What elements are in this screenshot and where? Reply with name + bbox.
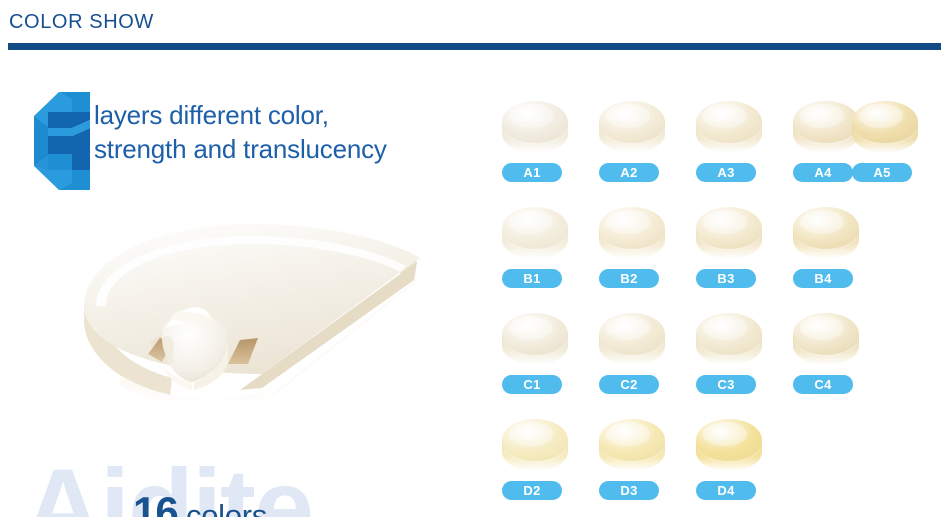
swatch-a1[interactable]: A1 bbox=[497, 88, 573, 188]
swatch-d3[interactable]: D3 bbox=[594, 406, 670, 506]
swatch-c1[interactable]: C1 bbox=[497, 300, 573, 400]
swatch-c2[interactable]: C2 bbox=[594, 300, 670, 400]
swatch-label-d2[interactable]: D2 bbox=[502, 481, 562, 500]
swatch-row-c: C1C2C3C4 bbox=[497, 300, 947, 405]
swatch-label-c3[interactable]: C3 bbox=[696, 375, 756, 394]
swatch-a5[interactable]: A5 bbox=[847, 88, 923, 188]
swatch-label-c1[interactable]: C1 bbox=[502, 375, 562, 394]
header-divider bbox=[8, 43, 941, 50]
disc-c1 bbox=[497, 300, 573, 374]
left-content-pane: layers different color, strength and tra… bbox=[0, 56, 480, 517]
swatch-row-d: D2D3D4 bbox=[497, 406, 947, 511]
headline-text: layers different color, strength and tra… bbox=[94, 98, 474, 166]
disc-b1 bbox=[497, 194, 573, 268]
swatch-label-b4[interactable]: B4 bbox=[793, 269, 853, 288]
swatch-label-b3[interactable]: B3 bbox=[696, 269, 756, 288]
color-count-word: colors bbox=[178, 498, 267, 517]
headline-line-2: strength and translucency bbox=[94, 132, 474, 166]
swatch-label-d3[interactable]: D3 bbox=[599, 481, 659, 500]
swatch-a3[interactable]: A3 bbox=[691, 88, 767, 188]
swatch-d4[interactable]: D4 bbox=[691, 406, 767, 506]
swatch-label-a4[interactable]: A4 bbox=[793, 163, 853, 182]
swatch-b2[interactable]: B2 bbox=[594, 194, 670, 294]
disc-d2 bbox=[497, 406, 573, 480]
disc-c3 bbox=[691, 300, 767, 374]
swatch-label-c4[interactable]: C4 bbox=[793, 375, 853, 394]
swatch-label-b1[interactable]: B1 bbox=[502, 269, 562, 288]
disc-b4 bbox=[788, 194, 864, 268]
swatch-label-d4[interactable]: D4 bbox=[696, 481, 756, 500]
color-show-page: COLOR SHOW layers different color, stren… bbox=[0, 0, 950, 517]
swatch-c3[interactable]: C3 bbox=[691, 300, 767, 400]
disc-a3 bbox=[691, 88, 767, 162]
disc-c4 bbox=[788, 300, 864, 374]
swatch-label-a1[interactable]: A1 bbox=[502, 163, 562, 182]
swatch-b3[interactable]: B3 bbox=[691, 194, 767, 294]
disc-d3 bbox=[594, 406, 670, 480]
disc-a2 bbox=[594, 88, 670, 162]
product-image-zirconia-block bbox=[62, 214, 462, 424]
disc-b3 bbox=[691, 194, 767, 268]
swatch-c4[interactable]: C4 bbox=[788, 300, 864, 400]
swatch-a2[interactable]: A2 bbox=[594, 88, 670, 188]
swatch-label-a3[interactable]: A3 bbox=[696, 163, 756, 182]
page-title: COLOR SHOW bbox=[9, 11, 154, 34]
swatch-d2[interactable]: D2 bbox=[497, 406, 573, 506]
six-layers-logo-icon bbox=[28, 92, 90, 190]
swatch-row-a: A1A2A3A4A5 bbox=[497, 88, 947, 193]
swatch-row-b: B1B2B3B4 bbox=[497, 194, 947, 299]
swatch-b1[interactable]: B1 bbox=[497, 194, 573, 294]
disc-a5 bbox=[847, 88, 923, 162]
disc-d4 bbox=[691, 406, 767, 480]
swatch-b4[interactable]: B4 bbox=[788, 194, 864, 294]
swatch-label-b2[interactable]: B2 bbox=[599, 269, 659, 288]
disc-b2 bbox=[594, 194, 670, 268]
swatch-label-a5[interactable]: A5 bbox=[852, 163, 912, 182]
headline-line-1: layers different color, bbox=[94, 98, 474, 132]
disc-c2 bbox=[594, 300, 670, 374]
swatch-label-a2[interactable]: A2 bbox=[599, 163, 659, 182]
color-swatch-grid: A1A2A3A4A5B1B2B3B4C1C2C3C4D2D3D4 bbox=[497, 88, 947, 517]
disc-a1 bbox=[497, 88, 573, 162]
swatch-label-c2[interactable]: C2 bbox=[599, 375, 659, 394]
color-count-number: 16 bbox=[133, 488, 178, 517]
color-count-line: 16 colors bbox=[133, 488, 267, 517]
